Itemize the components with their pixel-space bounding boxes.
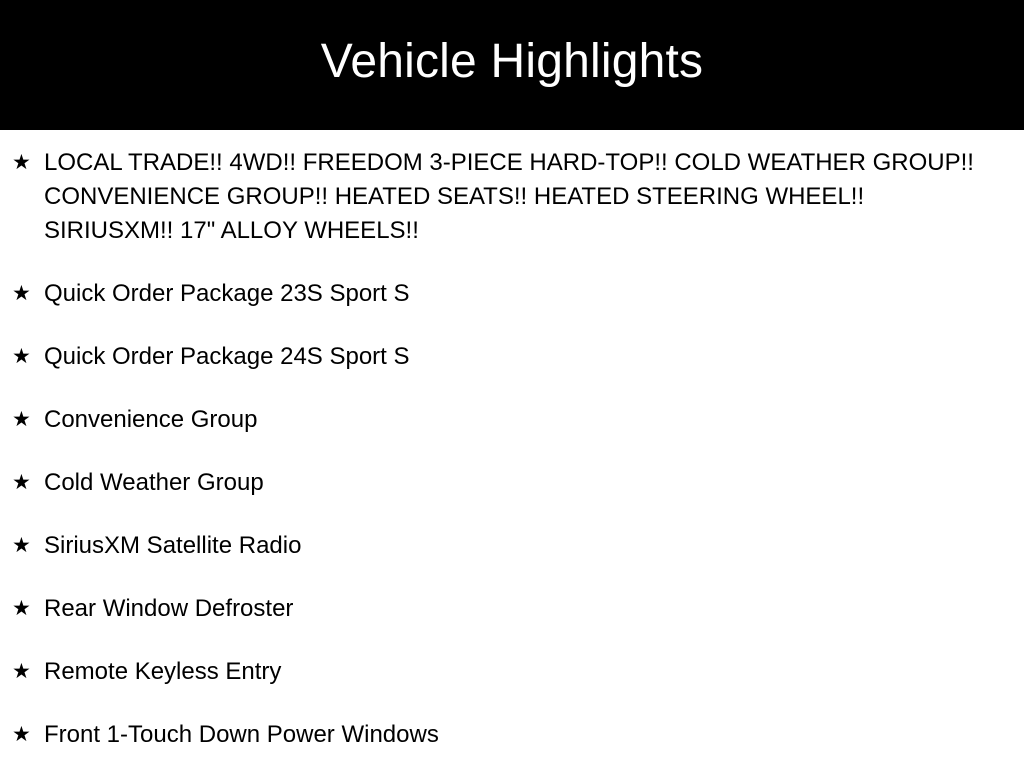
page-root: Vehicle Highlights ★LOCAL TRADE!! 4WD!! … [0,0,1024,768]
highlight-item: ★LOCAL TRADE!! 4WD!! FREEDOM 3-PIECE HAR… [0,146,1024,248]
header-banner: Vehicle Highlights [0,0,1024,130]
star-icon: ★ [12,277,34,311]
star-icon: ★ [12,340,34,374]
highlight-item-label: Remote Keyless Entry [44,655,1000,689]
highlight-item: ★Quick Order Package 24S Sport S [0,340,1024,374]
highlight-item-label: Quick Order Package 24S Sport S [44,340,1000,374]
star-icon: ★ [12,529,34,563]
highlight-item: ★Cold Weather Group [0,466,1024,500]
highlight-item-label: Convenience Group [44,403,1000,437]
highlight-item: ★Remote Keyless Entry [0,655,1024,689]
page-title: Vehicle Highlights [321,37,704,87]
highlight-item: ★Convenience Group [0,403,1024,437]
highlight-item-label: Quick Order Package 23S Sport S [44,277,1000,311]
highlight-item: ★Rear Window Defroster [0,592,1024,626]
highlight-item-label: Front 1-Touch Down Power Windows [44,718,1000,752]
highlight-item: ★SiriusXM Satellite Radio [0,529,1024,563]
star-icon: ★ [12,655,34,689]
star-icon: ★ [12,592,34,626]
star-icon: ★ [12,718,34,752]
highlight-item: ★Quick Order Package 23S Sport S [0,277,1024,311]
highlight-item-label: Cold Weather Group [44,466,1000,500]
star-icon: ★ [12,403,34,437]
star-icon: ★ [12,466,34,500]
highlight-item-label: LOCAL TRADE!! 4WD!! FREEDOM 3-PIECE HARD… [44,146,1000,248]
highlight-item: ★Front 1-Touch Down Power Windows [0,718,1024,752]
highlight-item-label: SiriusXM Satellite Radio [44,529,1000,563]
star-icon: ★ [12,146,34,180]
highlight-item-label: Rear Window Defroster [44,592,1000,626]
vehicle-highlights-list: ★LOCAL TRADE!! 4WD!! FREEDOM 3-PIECE HAR… [0,130,1024,752]
